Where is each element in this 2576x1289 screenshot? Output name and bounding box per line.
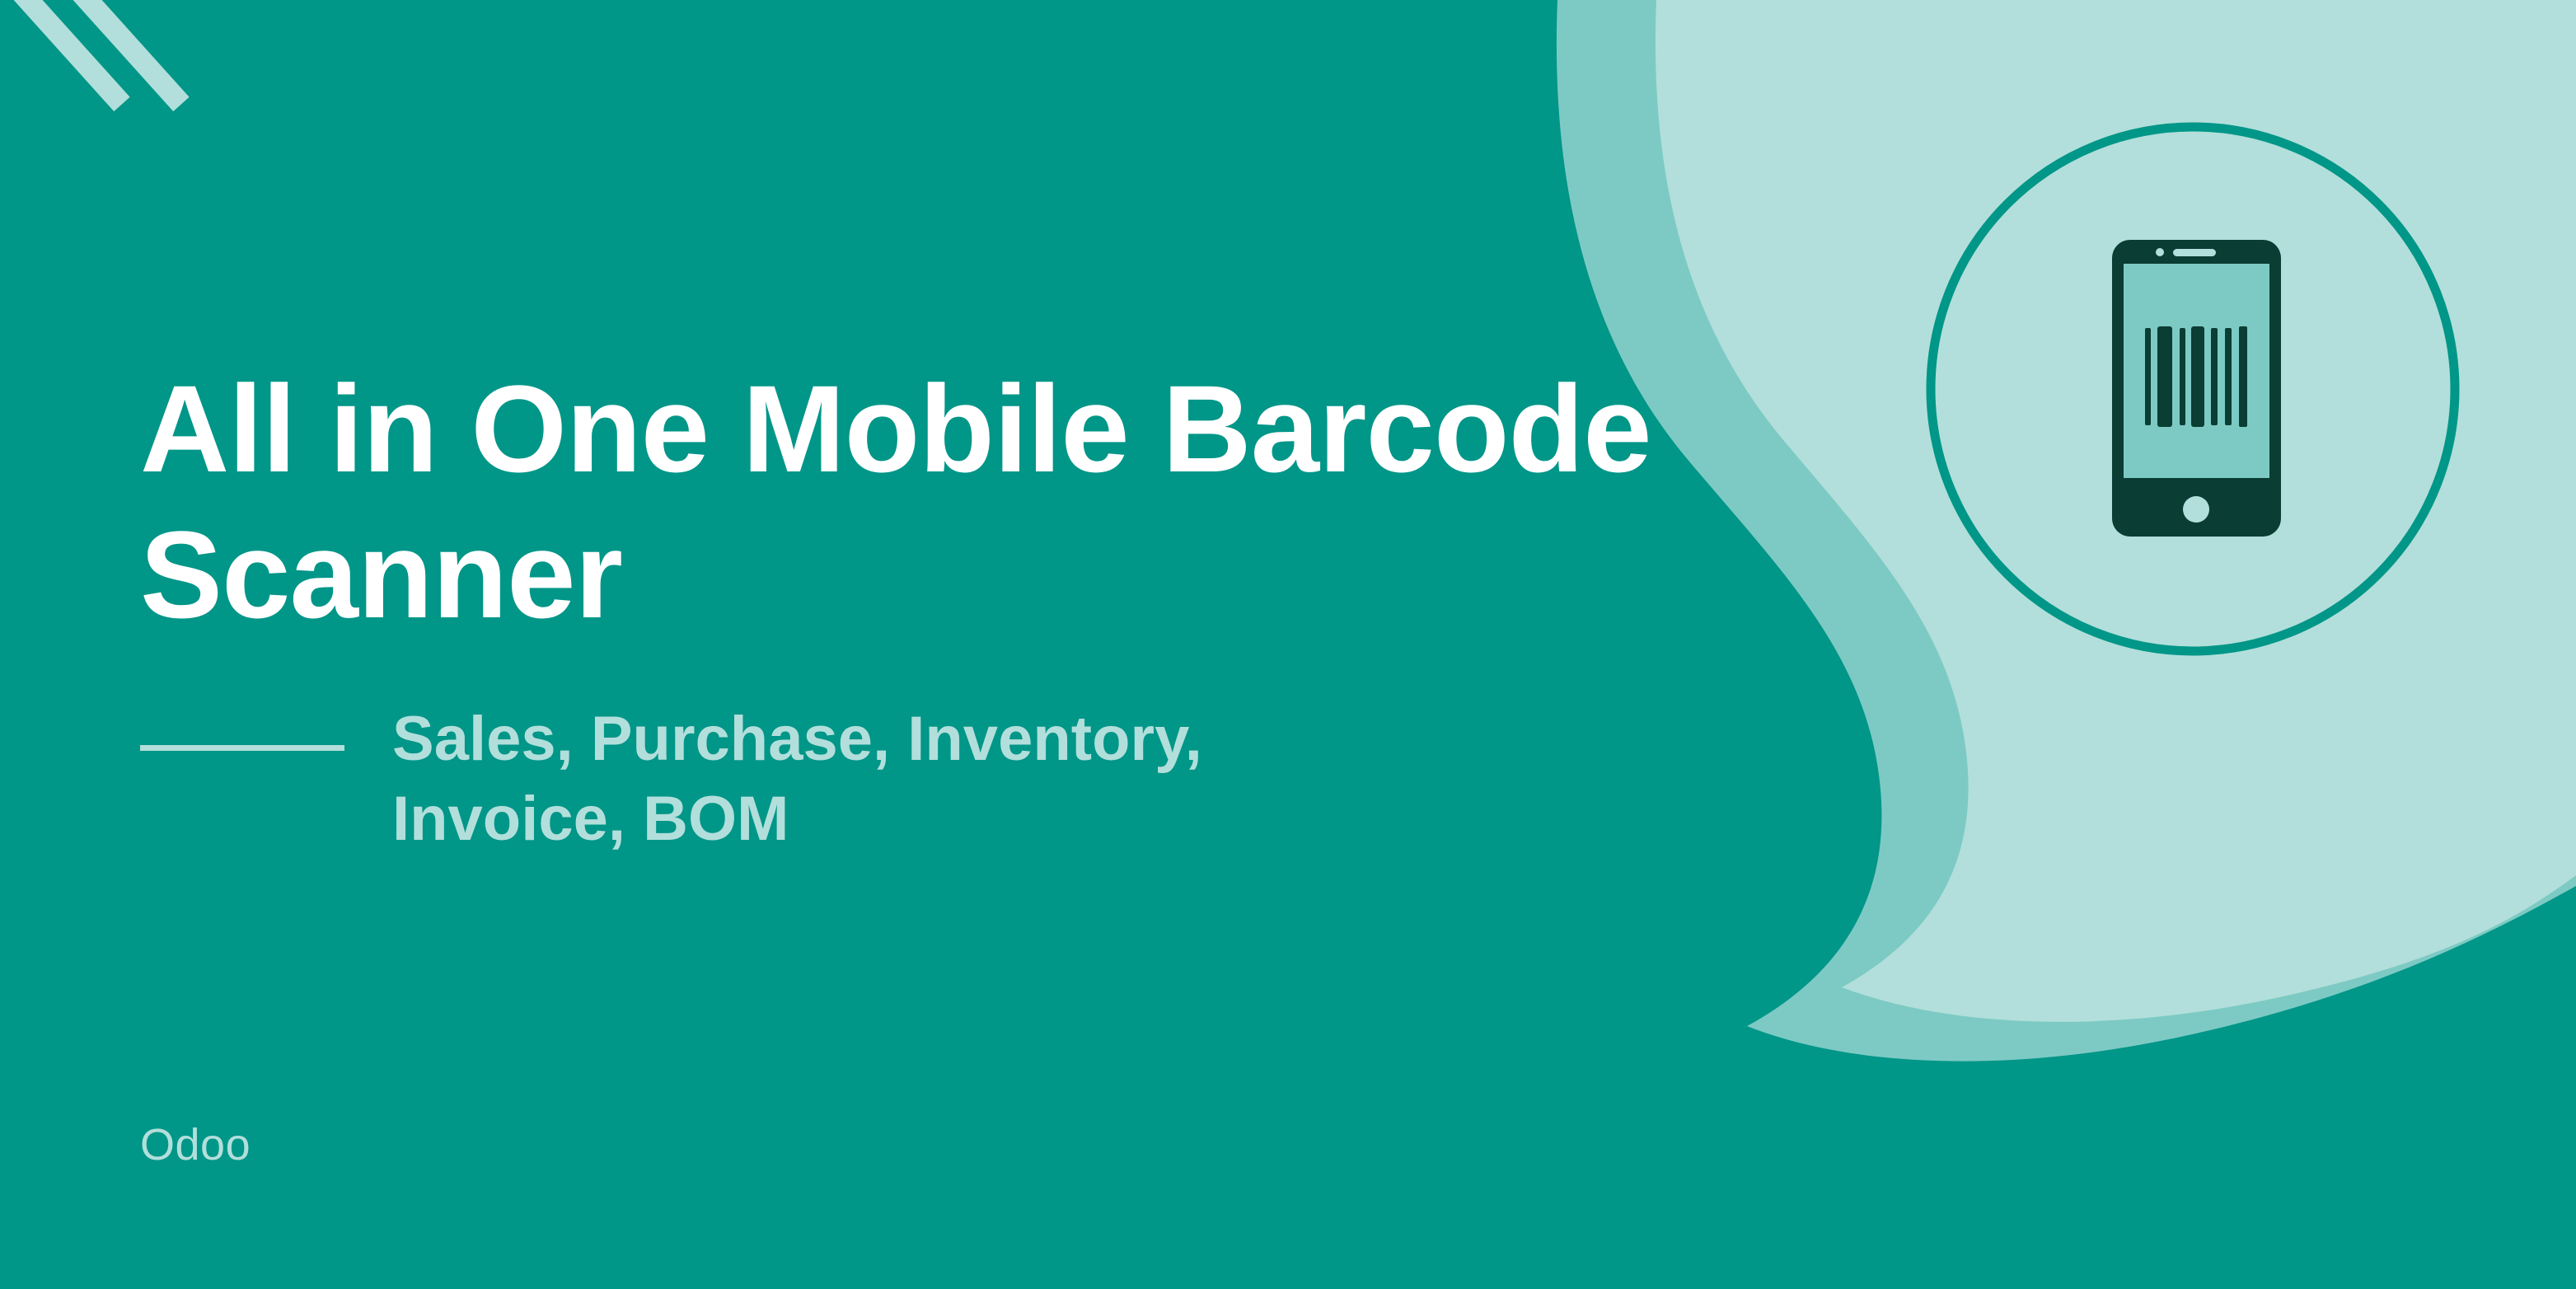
barcode-graphic [2145, 326, 2247, 427]
circle-outline-icon [1931, 127, 2455, 651]
organic-blob-shape-light [1656, 0, 2576, 1022]
phone-screen [2124, 264, 2269, 478]
phone-camera-icon [2156, 248, 2164, 256]
phone-home-button [2183, 496, 2209, 523]
organic-blob-shape-mid [1557, 0, 2576, 1062]
footer-brand-label: Odoo [140, 1123, 251, 1167]
page-subtitle: Sales, Purchase, Inventory, Invoice, BOM [392, 699, 1315, 860]
mobile-barcode-scanner-icon [2112, 240, 2281, 537]
page-title: All in One Mobile Barcode Scanner [140, 356, 1706, 648]
slide-content: All in One Mobile Barcode Scanner Sales,… [140, 0, 1706, 1289]
diagonal-stripe-1 [0, 0, 130, 111]
phone-body [2112, 240, 2281, 537]
phone-speaker [2173, 249, 2216, 256]
subtitle-row: Sales, Purchase, Inventory, Invoice, BOM [140, 699, 1706, 860]
subtitle-dash-rule [140, 745, 344, 751]
slide-canvas: All in One Mobile Barcode Scanner Sales,… [0, 0, 2576, 1289]
